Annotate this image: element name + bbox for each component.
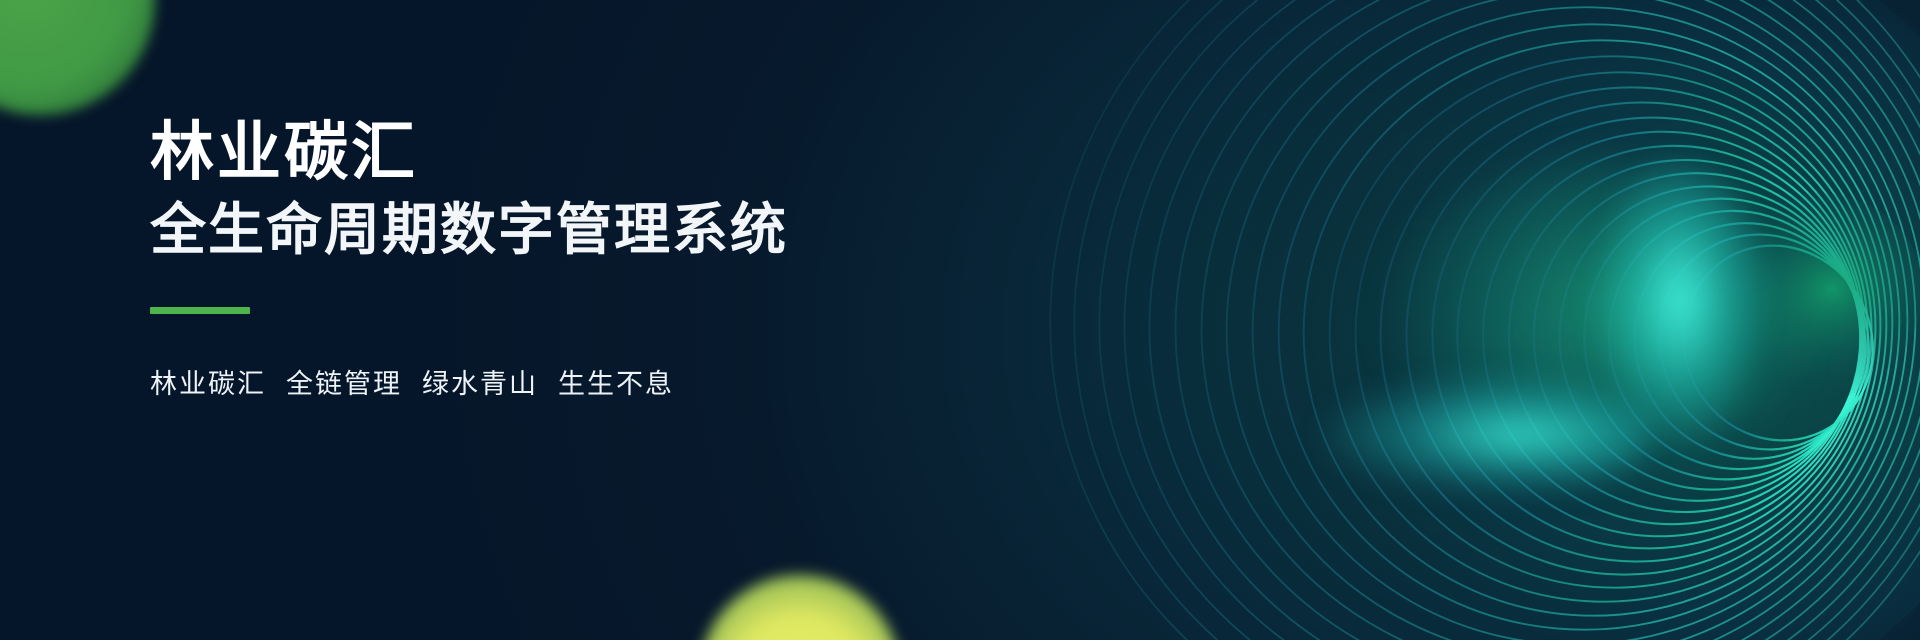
tagline-item-0: 林业碳汇 xyxy=(150,369,266,399)
tagline-item-3: 生生不息 xyxy=(558,369,674,399)
page-subtitle: 全生命周期数字管理系统 xyxy=(150,199,970,262)
vortex-graphic xyxy=(820,0,1920,640)
page-title: 林业碳汇 xyxy=(150,118,970,187)
tagline: 林业碳汇全链管理绿水青山生生不息 xyxy=(150,362,970,401)
accent-divider xyxy=(150,307,250,314)
hero-banner: 林业碳汇 全生命周期数字管理系统 林业碳汇全链管理绿水青山生生不息 xyxy=(0,0,1920,640)
tagline-item-1: 全链管理 xyxy=(286,369,402,399)
tagline-item-2: 绿水青山 xyxy=(422,369,538,399)
hero-content: 林业碳汇 全生命周期数字管理系统 林业碳汇全链管理绿水青山生生不息 xyxy=(150,118,970,401)
